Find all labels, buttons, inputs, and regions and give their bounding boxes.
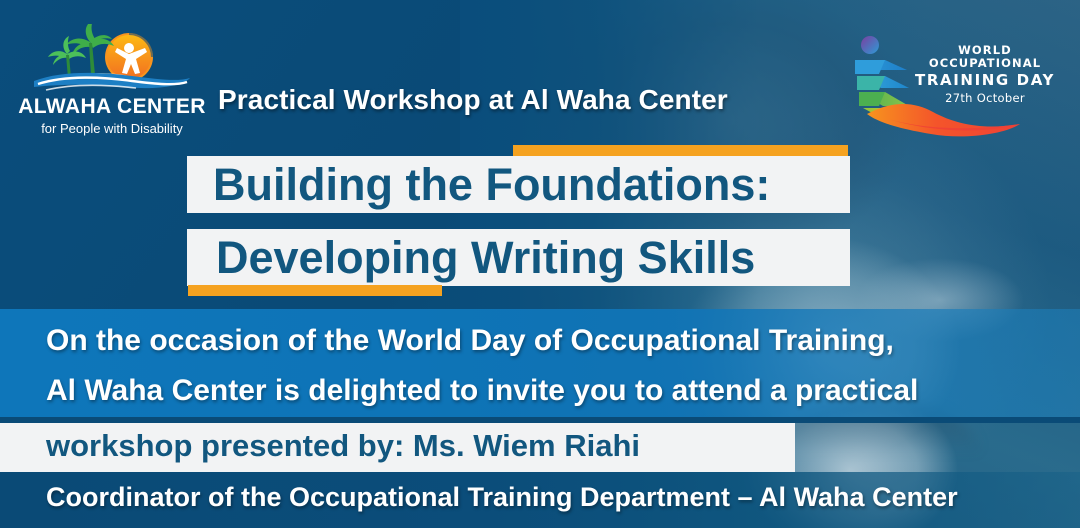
- body-line-2: Al Waha Center is delighted to invite yo…: [46, 376, 918, 406]
- title-band-2: Developing Writing Skills: [187, 229, 850, 286]
- accent-bar-top: [513, 145, 848, 156]
- presenter-line: workshop presented by: Ms. Wiem Riahi: [46, 430, 640, 461]
- logo-tagline: for People with Disability: [14, 122, 210, 135]
- accent-bar-bottom: [188, 285, 442, 296]
- world-occupational-training-day-logo: WORLD OCCUPATIONAL TRAINING DAY 27th Oct…: [845, 30, 1070, 140]
- title-band-1: Building the Foundations:: [187, 156, 850, 213]
- body-line-1: On the occasion of the World Day of Occu…: [46, 326, 894, 356]
- presenter-role-line: Coordinator of the Occupational Training…: [46, 484, 958, 511]
- wotd-text-block: WORLD OCCUPATIONAL TRAINING DAY 27th Oct…: [900, 44, 1070, 106]
- alwaha-center-logo: ALWAHA CENTER for People with Disability: [14, 24, 210, 135]
- wotd-line-1: WORLD OCCUPATIONAL: [900, 44, 1070, 69]
- event-poster: ALWAHA CENTER for People with Disability: [0, 0, 1080, 528]
- logo-center-name: ALWAHA CENTER: [14, 96, 210, 117]
- title-line-1: Building the Foundations:: [187, 162, 770, 207]
- workshop-kicker: Practical Workshop at Al Waha Center: [218, 84, 728, 116]
- palm-island-sun-icon: [32, 24, 192, 92]
- title-line-2: Developing Writing Skills: [187, 235, 755, 280]
- wotd-line-2: TRAINING DAY: [900, 71, 1070, 90]
- wotd-line-3: 27th October: [900, 92, 1070, 106]
